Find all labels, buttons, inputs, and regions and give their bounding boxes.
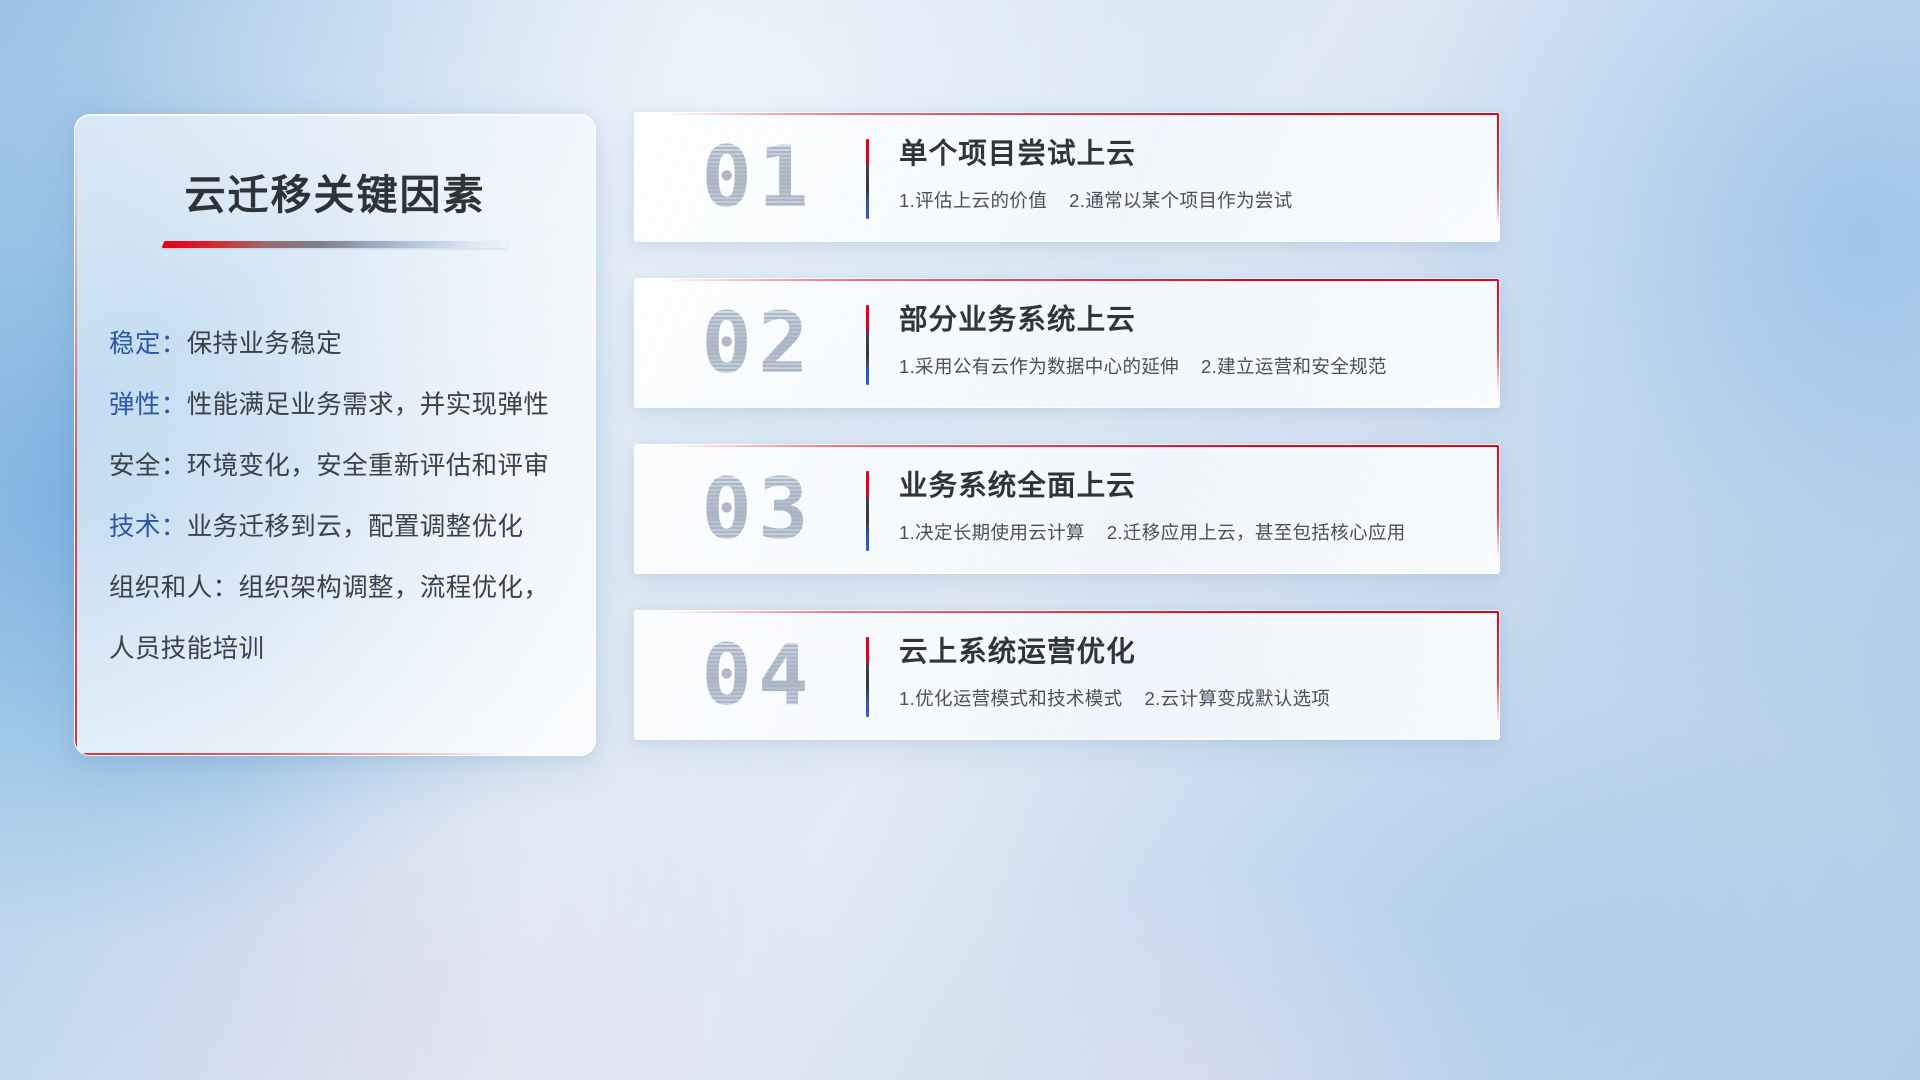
stage-divider-bar bbox=[866, 471, 869, 551]
key-factors-panel: 云迁移关键因素 稳定：保持业务稳定 弹性：性能满足业务需求，并实现弹性 安全：环… bbox=[74, 114, 596, 756]
list-item-label: 技术： bbox=[109, 513, 187, 541]
stage-description-part-1: 1.决定长期使用云计算 bbox=[899, 522, 1085, 543]
stage-card-body: 业务系统全面上云 1.决定长期使用云计算2.迁移应用上云，甚至包括核心应用 bbox=[899, 469, 1469, 545]
list-item-text: 保持业务稳定 bbox=[187, 330, 342, 358]
stage-description: 1.评估上云的价值2.通常以某个项目作为尝试 bbox=[899, 187, 1469, 213]
list-item-text: 环境变化，安全重新评估和评审 bbox=[187, 452, 550, 480]
stage-card-02[interactable]: 02 部分业务系统上云 1.采用公有云作为数据中心的延伸2.建立运营和安全规范 bbox=[634, 278, 1500, 408]
stage-card-body: 云上系统运营优化 1.优化运营模式和技术模式2.云计算变成默认选项 bbox=[899, 635, 1469, 711]
stage-card-01[interactable]: 01 单个项目尝试上云 1.评估上云的价值2.通常以某个项目作为尝试 bbox=[634, 112, 1500, 242]
list-item: 稳定：保持业务稳定 bbox=[109, 314, 571, 375]
list-item-label: 安全： bbox=[109, 452, 187, 480]
stage-divider-bar bbox=[866, 305, 869, 385]
stage-title: 部分业务系统上云 bbox=[899, 303, 1469, 339]
list-item-label: 稳定： bbox=[109, 330, 187, 358]
stage-card-03[interactable]: 03 业务系统全面上云 1.决定长期使用云计算2.迁移应用上云，甚至包括核心应用 bbox=[634, 444, 1500, 574]
list-item-text: 人员技能培训 bbox=[109, 635, 264, 663]
list-item: 弹性：性能满足业务需求，并实现弹性 bbox=[109, 375, 571, 436]
stage-description-part-2: 2.迁移应用上云，甚至包括核心应用 bbox=[1107, 522, 1406, 543]
stage-card-body: 部分业务系统上云 1.采用公有云作为数据中心的延伸2.建立运营和安全规范 bbox=[899, 303, 1469, 379]
stage-title: 单个项目尝试上云 bbox=[899, 137, 1469, 173]
list-item-text: 性能满足业务需求，并实现弹性 bbox=[187, 391, 550, 419]
stage-card-04[interactable]: 04 云上系统运营优化 1.优化运营模式和技术模式2.云计算变成默认选项 bbox=[634, 610, 1500, 740]
list-item-label: 弹性： bbox=[109, 391, 187, 419]
stage-card-body: 单个项目尝试上云 1.评估上云的价值2.通常以某个项目作为尝试 bbox=[899, 137, 1469, 213]
stage-description: 1.优化运营模式和技术模式2.云计算变成默认选项 bbox=[899, 685, 1469, 711]
page-title: 云迁移关键因素 bbox=[75, 161, 595, 221]
stage-title: 云上系统运营优化 bbox=[899, 635, 1469, 671]
stage-number-03: 03 bbox=[663, 467, 853, 551]
stage-divider-bar bbox=[866, 637, 869, 717]
stage-description: 1.采用公有云作为数据中心的延伸2.建立运营和安全规范 bbox=[899, 353, 1469, 379]
migration-stage-list: 01 单个项目尝试上云 1.评估上云的价值2.通常以某个项目作为尝试 02 部分… bbox=[634, 112, 1500, 776]
stage-number-02: 02 bbox=[663, 301, 853, 385]
stage-description-part-1: 1.评估上云的价值 bbox=[899, 190, 1047, 211]
list-item: 人员技能培训 bbox=[109, 619, 571, 680]
list-item-label: 组织和人： bbox=[109, 574, 239, 602]
stage-description-part-1: 1.优化运营模式和技术模式 bbox=[899, 688, 1122, 709]
key-factors-list: 稳定：保持业务稳定 弹性：性能满足业务需求，并实现弹性 安全：环境变化，安全重新… bbox=[109, 314, 571, 680]
stage-number-01: 01 bbox=[663, 135, 853, 219]
title-underline-rule bbox=[162, 241, 509, 248]
stage-divider-bar bbox=[866, 139, 869, 219]
stage-number-04: 04 bbox=[663, 633, 853, 717]
list-item: 组织和人：组织架构调整，流程优化， bbox=[109, 558, 571, 619]
stage-description: 1.决定长期使用云计算2.迁移应用上云，甚至包括核心应用 bbox=[899, 519, 1469, 545]
list-item-text: 组织架构调整，流程优化， bbox=[239, 574, 550, 602]
slide-stage: 云迁移关键因素 稳定：保持业务稳定 弹性：性能满足业务需求，并实现弹性 安全：环… bbox=[0, 0, 1920, 1080]
list-item: 安全：环境变化，安全重新评估和评审 bbox=[109, 436, 571, 497]
stage-title: 业务系统全面上云 bbox=[899, 469, 1469, 505]
stage-description-part-1: 1.采用公有云作为数据中心的延伸 bbox=[899, 356, 1179, 377]
stage-description-part-2: 2.云计算变成默认选项 bbox=[1144, 688, 1330, 709]
stage-description-part-2: 2.建立运营和安全规范 bbox=[1201, 356, 1387, 377]
stage-description-part-2: 2.通常以某个项目作为尝试 bbox=[1069, 190, 1292, 211]
list-item: 技术：业务迁移到云，配置调整优化 bbox=[109, 497, 571, 558]
list-item-text: 业务迁移到云，配置调整优化 bbox=[187, 513, 524, 541]
